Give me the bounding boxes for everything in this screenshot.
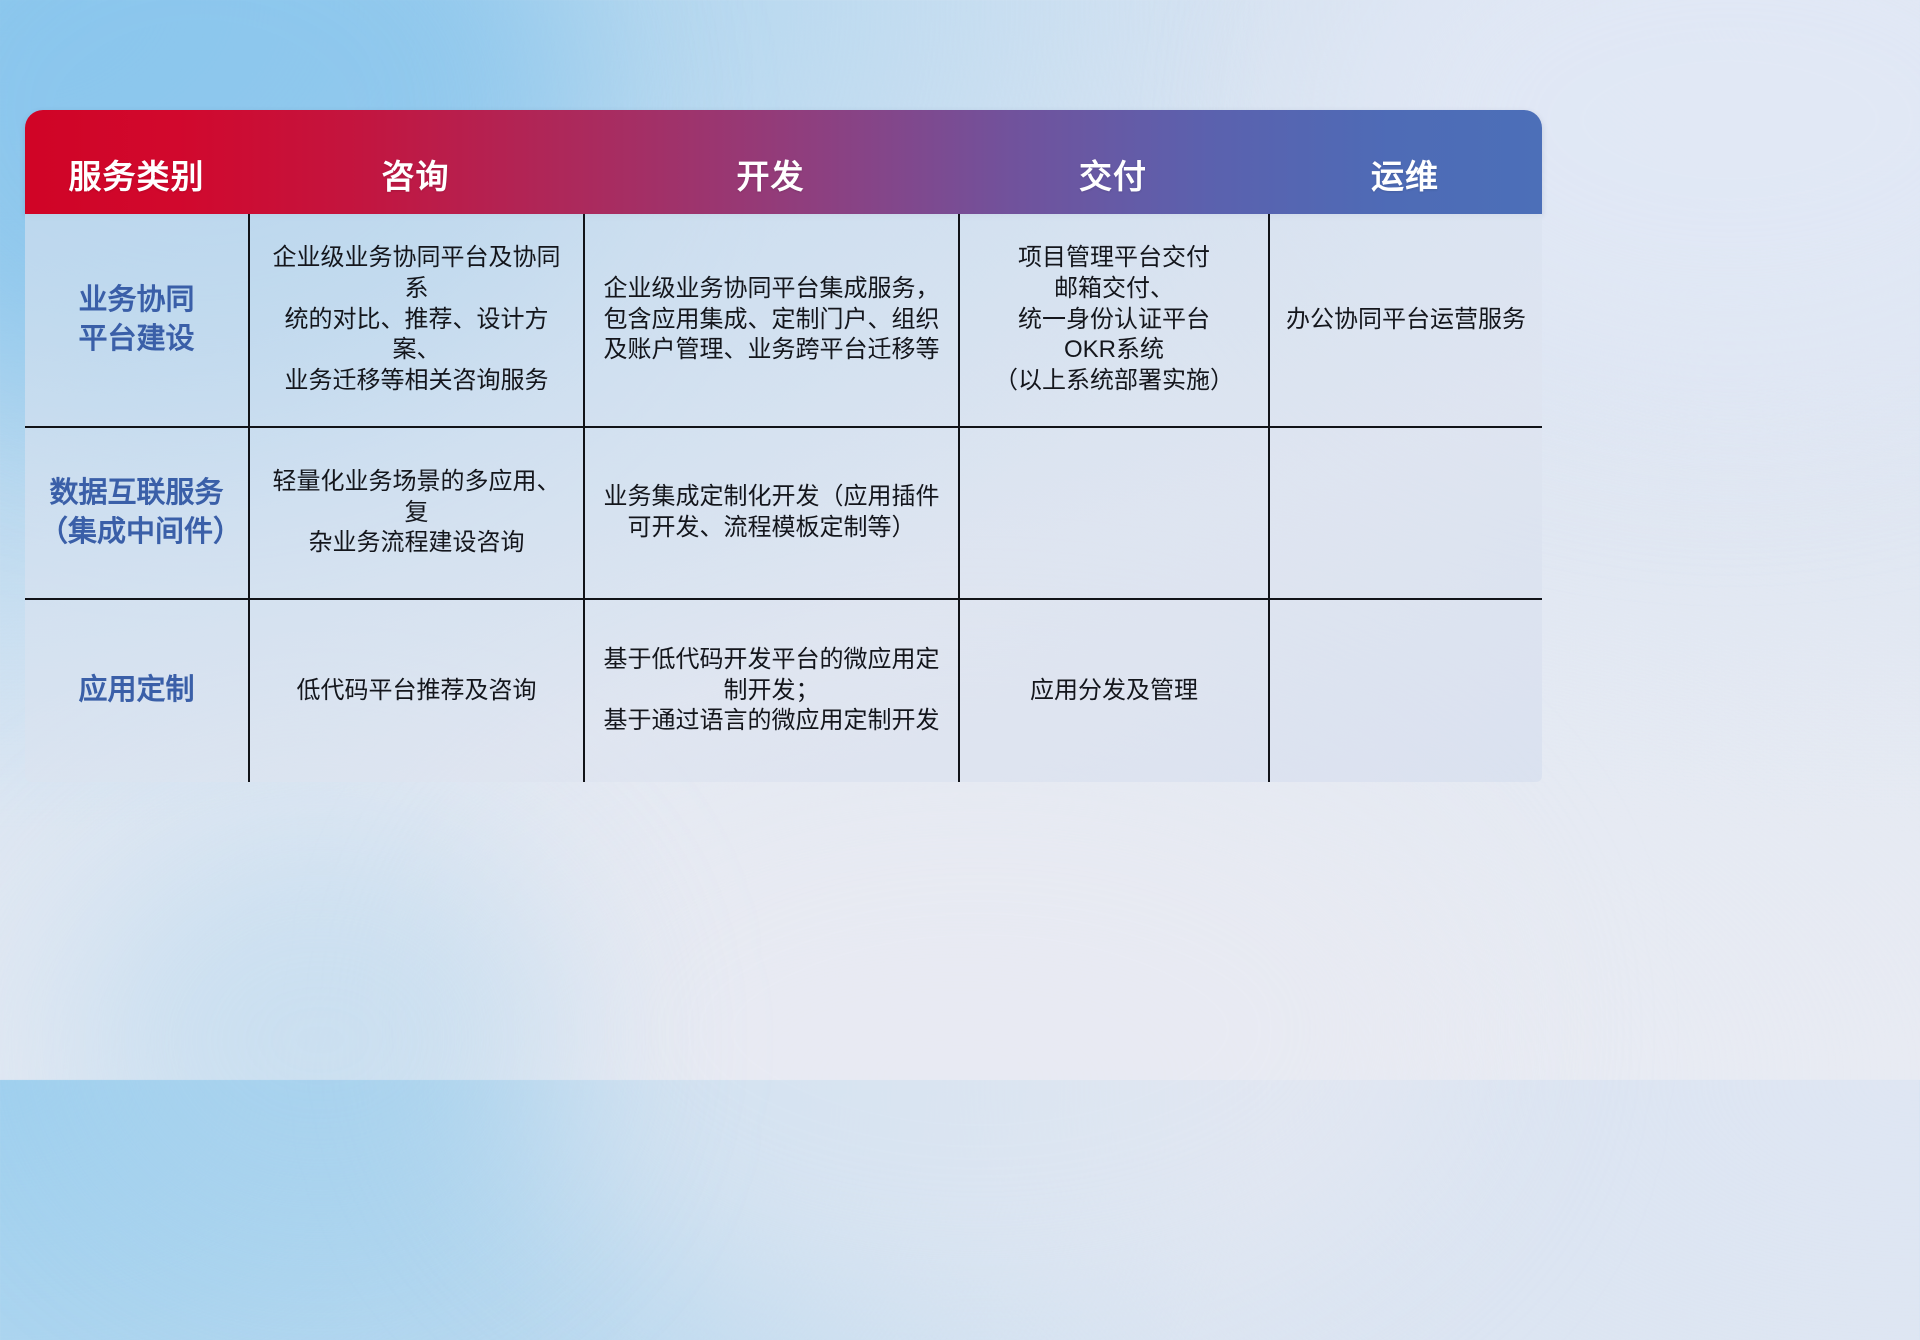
service-matrix-table: 服务类别 咨询 开发 交付 运维 业务协同 平台建设 企业级业务协同平台及协同系… [25,110,1542,778]
row-category-label: 业务协同 平台建设 [25,214,248,426]
cell-delivery [958,428,1268,598]
table-row: 业务协同 平台建设 企业级业务协同平台及协同系 统的对比、推荐、设计方案、 业务… [25,214,1542,426]
column-header-delivery: 交付 [958,150,1268,214]
cell-development: 业务集成定制化开发（应用插件 可开发、流程模板定制等） [583,428,958,598]
cell-development: 基于低代码开发平台的微应用定 制开发； 基于通过语言的微应用定制开发 [583,600,958,782]
table-row: 数据互联服务 （集成中间件） 轻量化业务场景的多应用、复 杂业务流程建设咨询 业… [25,426,1542,598]
cell-consulting: 企业级业务协同平台及协同系 统的对比、推荐、设计方案、 业务迁移等相关咨询服务 [248,214,583,426]
cell-operations: 办公协同平台运营服务 [1268,214,1542,426]
row-category-label: 数据互联服务 （集成中间件） [25,428,248,598]
column-header-operations: 运维 [1268,150,1542,214]
cell-delivery: 项目管理平台交付 邮箱交付、 统一身份认证平台 OKR系统 （以上系统部署实施） [958,214,1268,426]
cell-operations [1268,428,1542,598]
slide-canvas: 服务类别 咨询 开发 交付 运维 业务协同 平台建设 企业级业务协同平台及协同系… [0,0,1920,1080]
row-category-label: 应用定制 [25,600,248,782]
background-blob-bottom-left [60,820,580,1260]
cell-delivery: 应用分发及管理 [958,600,1268,782]
column-header-consulting: 咨询 [248,150,583,214]
cell-operations [1268,600,1542,782]
background-blob-bottom-center [480,720,1480,1340]
column-header-category: 服务类别 [25,150,248,214]
cell-consulting: 低代码平台推荐及咨询 [248,600,583,782]
table-body: 业务协同 平台建设 企业级业务协同平台及协同系 统的对比、推荐、设计方案、 业务… [25,214,1542,782]
column-header-development: 开发 [583,150,958,214]
cell-development: 企业级业务协同平台集成服务， 包含应用集成、定制门户、组织 及账户管理、业务跨平… [583,214,958,426]
cell-consulting: 轻量化业务场景的多应用、复 杂业务流程建设咨询 [248,428,583,598]
table-header-row: 服务类别 咨询 开发 交付 运维 [25,110,1542,214]
table-row: 应用定制 低代码平台推荐及咨询 基于低代码开发平台的微应用定 制开发； 基于通过… [25,598,1542,782]
